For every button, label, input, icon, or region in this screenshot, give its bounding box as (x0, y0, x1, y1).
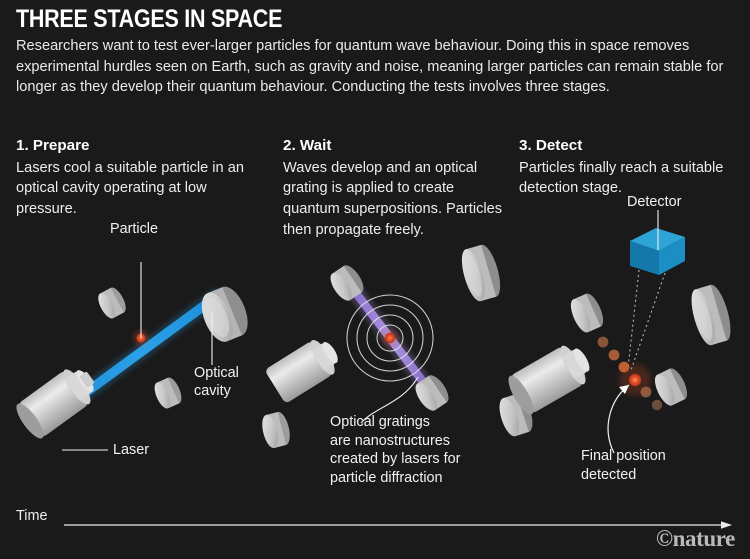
stage-3-description: Particles finally reach a suitable detec… (519, 160, 723, 197)
optic-element-upper-right (457, 242, 505, 303)
stage-2-illustration: Optical gratings are nanostructures crea… (283, 225, 519, 515)
laser-source (12, 360, 103, 442)
label-detector: Detector (627, 193, 681, 211)
intro-paragraph: Researchers want to test ever-larger par… (16, 36, 732, 98)
label-final-position: Final position detected (581, 447, 666, 484)
label-laser: Laser (113, 441, 149, 459)
page-title: THREE STAGES IN SPACE (16, 6, 282, 33)
stage-1-number: 1. Prepare (16, 135, 266, 157)
label-optical-gratings: Optical gratings are nanostructures crea… (330, 413, 460, 488)
optic-element-right-3 (687, 282, 736, 347)
optic-element-upper-left-3 (567, 291, 607, 335)
nature-credit-logo: ©nature (656, 526, 735, 552)
optic-element-lower-right (151, 375, 184, 410)
stage-3-illustration: Detector Final position detected (519, 195, 750, 505)
optic-element-upper-left (95, 285, 129, 321)
time-axis-label: Time (16, 508, 47, 524)
superposition-particle (381, 329, 399, 347)
label-optical-cavity: Optical cavity (194, 364, 239, 400)
time-axis-arrow (64, 520, 732, 530)
leader-line-final-position (608, 385, 629, 453)
label-particle: Particle (110, 220, 158, 238)
stage-1-illustration: Particle Optical cavity Laser (0, 225, 283, 495)
stage-3-heading: 3. Detect Particles finally reach a suit… (519, 135, 744, 199)
stage-3-number: 3. Detect (519, 135, 744, 157)
stage-2-number: 2. Wait (283, 135, 508, 157)
stage-1-description: Lasers cool a suitable particle in an op… (16, 160, 244, 217)
detection-cone (628, 270, 665, 370)
optical-cavity-mirror (196, 282, 254, 346)
stage-1-heading: 1. Prepare Lasers cool a suitable partic… (16, 135, 266, 220)
infographic-root: THREE STAGES IN SPACE Researchers want t… (0, 0, 750, 559)
